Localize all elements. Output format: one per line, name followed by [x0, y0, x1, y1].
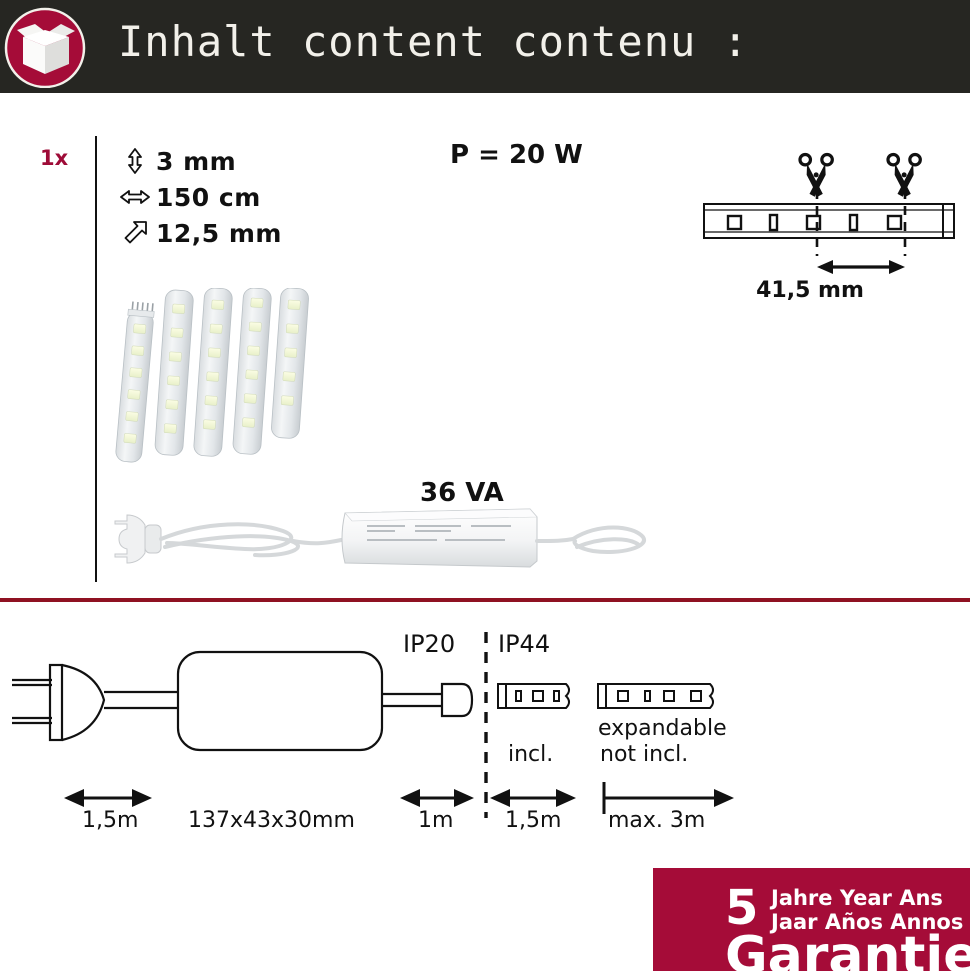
- spec-row-height: 3 mm: [120, 143, 282, 179]
- strip-included-length-label: 1,5m: [505, 808, 561, 833]
- ip44-label: IP44: [498, 630, 550, 658]
- strip-included-outline: [498, 684, 569, 708]
- led-strip-photo: [112, 288, 312, 473]
- transformer-body: [342, 509, 537, 567]
- ip20-label: IP20: [403, 630, 455, 658]
- cut-interval-label: 41,5 mm: [756, 278, 864, 303]
- included-label: incl.: [508, 742, 553, 767]
- transformer-outline: [178, 652, 382, 750]
- spec-value-width: 12,5 mm: [156, 219, 282, 248]
- vertical-divider: [95, 136, 97, 582]
- warranty-years: 5: [725, 884, 758, 932]
- connector-outline: [442, 684, 472, 716]
- warranty-title: Garantie: [725, 930, 970, 971]
- cut-interval-diagram: 41,5 mm: [700, 150, 965, 305]
- cut-interval-arrow: [817, 260, 905, 274]
- transformer-size-label: 137x43x30mm: [188, 808, 355, 833]
- warranty-line-1: Jahre Year Ans: [771, 886, 943, 910]
- diagonal-arrow-icon: [120, 220, 150, 246]
- packaging-contents-sheet: Inhalt content contenu : 1x 3 mm 150 cm: [0, 0, 970, 971]
- spec-row-width: 12,5 mm: [120, 215, 282, 251]
- spec-list: 3 mm 150 cm 12,5 mm: [120, 143, 282, 251]
- warranty-badge: 5 Jahre Year Ans Jaar Años Annos Garanti…: [653, 868, 970, 971]
- euro-plug: [115, 515, 161, 563]
- strip-max-length-label: max. 3m: [608, 808, 705, 833]
- plug-outline: [12, 665, 104, 740]
- section-divider: [0, 598, 970, 602]
- expandable-label: expandable: [598, 716, 727, 741]
- led-strip-schematic: [704, 204, 954, 238]
- vertical-double-arrow-icon: [120, 148, 150, 174]
- power-label: P = 20 W: [450, 140, 583, 170]
- mains-cable-length-label: 1,5m: [82, 808, 138, 833]
- open-box-icon: [3, 4, 87, 88]
- quantity-label: 1x: [40, 146, 68, 170]
- spec-value-height: 3 mm: [156, 147, 236, 176]
- lead-cable-length-label: 1m: [418, 808, 453, 833]
- not-included-label: not incl.: [600, 742, 688, 767]
- spec-row-length: 150 cm: [120, 179, 282, 215]
- strip-expandable-outline: [598, 684, 713, 708]
- power-supply-photo: [105, 495, 650, 575]
- spec-value-length: 150 cm: [156, 183, 261, 212]
- horizontal-double-arrow-icon: [120, 184, 150, 210]
- page-title: Inhalt content contenu :: [118, 17, 749, 66]
- header-bar: Inhalt content contenu :: [0, 0, 970, 93]
